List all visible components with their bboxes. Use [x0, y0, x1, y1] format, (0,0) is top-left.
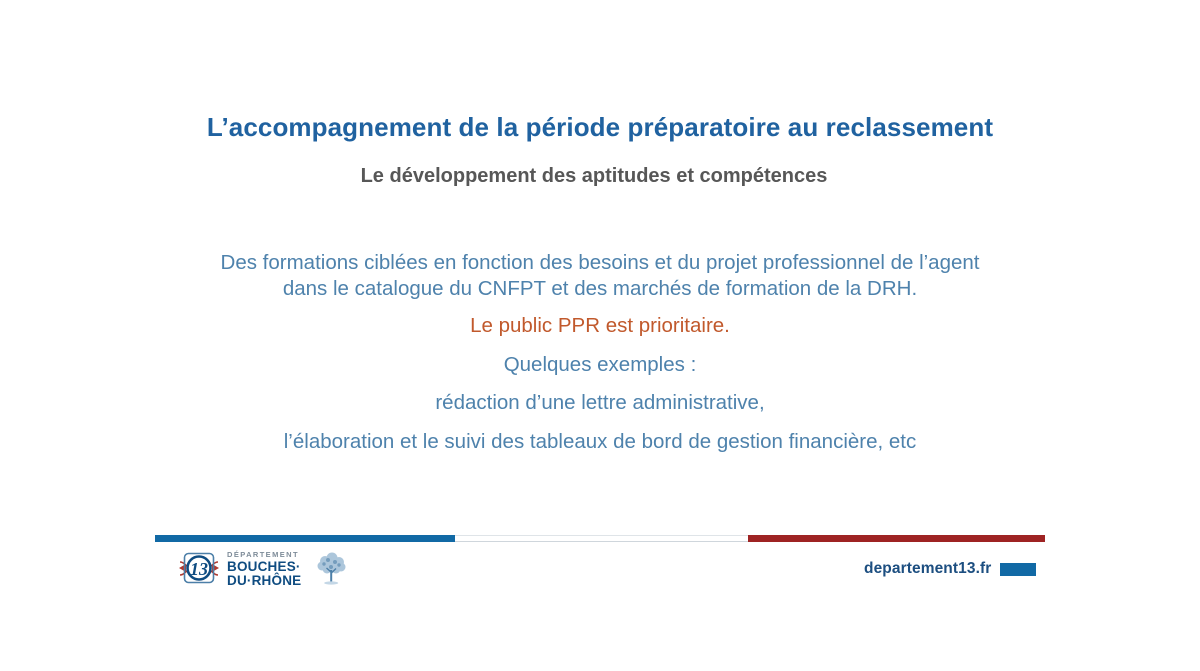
body-paragraph-example-1: rédaction d’une lettre administrative, — [180, 390, 1020, 416]
footer-divider-tricolor — [155, 535, 1045, 542]
site-url-label: departement13.fr — [864, 560, 991, 578]
page-title: L’accompagnement de la période préparato… — [0, 112, 1200, 143]
tree-icon — [309, 550, 353, 588]
logo-line-du-rhone: DU·RHÔNE — [227, 574, 301, 588]
logo-line-bouches: BOUCHES· — [227, 560, 301, 574]
footer-logo: 13 DÉPARTEMENT BOUCHES· DU·RHÔNE — [178, 549, 353, 589]
logo-line-departement: DÉPARTEMENT — [227, 551, 301, 559]
body-paragraph-examples-label: Quelques exemples : — [180, 352, 1020, 378]
body-paragraph-example-2: l’élaboration et le suivi des tableaux d… — [180, 429, 1020, 455]
body-paragraph-highlight: Le public PPR est prioritaire. — [180, 313, 1020, 339]
logo-wordmark: DÉPARTEMENT BOUCHES· DU·RHÔNE — [227, 551, 301, 587]
body-paragraph-intro: Des formations ciblées en fonction des b… — [215, 250, 985, 301]
body-content: Des formations ciblées en fonction des b… — [180, 250, 1020, 454]
footer-site-link[interactable]: departement13.fr — [864, 560, 1036, 578]
slide-canvas: L’accompagnement de la période préparato… — [0, 0, 1200, 671]
site-badge-icon — [1000, 563, 1036, 576]
heading-block: L’accompagnement de la période préparato… — [0, 112, 1200, 188]
page-subtitle: Le développement des aptitudes et compét… — [0, 164, 1200, 188]
divider-segment-blue — [155, 535, 455, 542]
divider-segment-white — [455, 535, 748, 542]
departement-13-emblem-icon: 13 — [178, 550, 220, 588]
svg-text:13: 13 — [190, 559, 208, 579]
divider-segment-red — [748, 535, 1045, 542]
